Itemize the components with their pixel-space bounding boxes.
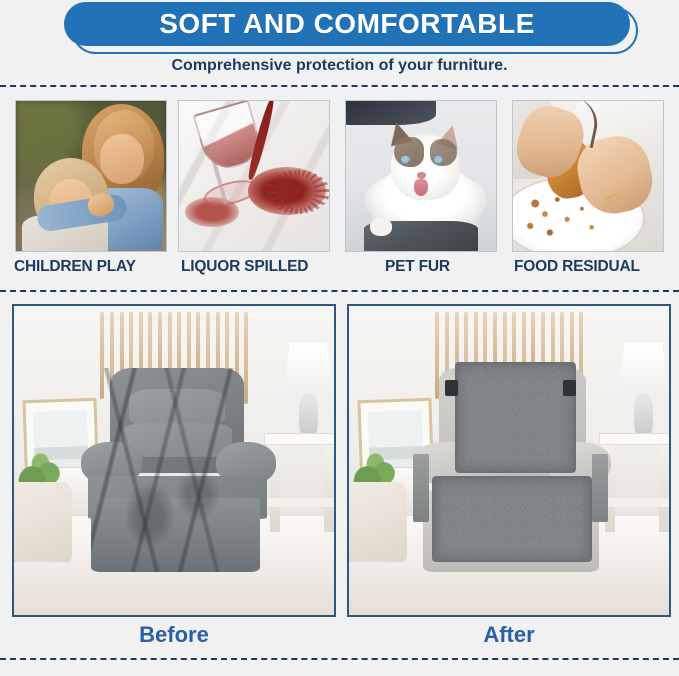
lamp-base xyxy=(634,393,653,436)
use-case-photo-liquor-spilled xyxy=(178,100,330,252)
lamp-shade xyxy=(618,343,669,396)
slipcover-strap-left xyxy=(445,380,458,395)
after-photo-frame xyxy=(347,304,671,617)
use-case-label-pet-fur: PET FUR xyxy=(385,258,450,276)
divider-top xyxy=(0,85,679,87)
use-case-label-children-play: CHILDREN PLAY xyxy=(14,258,136,276)
after-caption: After xyxy=(347,622,671,648)
slipcover-side-flap-right xyxy=(592,454,608,522)
lamp-shade xyxy=(283,343,334,396)
side-stool xyxy=(12,482,72,562)
side-table-top xyxy=(264,433,336,445)
wine-splash-crown xyxy=(266,170,330,214)
use-case-label-food-residual: FOOD RESIDUAL xyxy=(514,258,640,276)
side-table-top xyxy=(599,433,671,445)
before-living-room-scene xyxy=(14,306,334,615)
after-living-room-scene xyxy=(349,306,669,615)
cat-paw xyxy=(370,218,392,236)
fluffy-cat-photo xyxy=(346,101,496,251)
before-caption: Before xyxy=(12,622,336,648)
banner-fill-shape: SOFT AND COMFORTABLE xyxy=(64,2,630,46)
food-crumbs-photo xyxy=(513,101,663,251)
recliner-front-panel xyxy=(91,498,261,572)
before-after-comparison: Before After xyxy=(0,304,679,624)
cat-eye-left xyxy=(400,155,411,164)
lamp-base xyxy=(299,393,318,436)
header-banner: SOFT AND COMFORTABLE xyxy=(0,0,679,56)
use-case-photo-pet-fur xyxy=(345,100,497,252)
divider-middle xyxy=(0,290,679,292)
slipcover-backrest-panel xyxy=(455,362,577,473)
child-back-face xyxy=(100,134,144,184)
side-stool xyxy=(347,482,407,562)
spilled-wine-photo xyxy=(179,101,329,251)
side-table-shelf xyxy=(602,498,671,507)
side-table-leg-right xyxy=(659,445,669,532)
use-case-label-liquor-spilled: LIQUOR SPILLED xyxy=(181,258,308,276)
divider-bottom xyxy=(0,658,679,660)
recliner-headrest-cushion xyxy=(129,389,225,426)
children-hugging-photo xyxy=(16,101,166,251)
cat-nose xyxy=(417,172,426,179)
cat-eye-right xyxy=(433,155,444,164)
cat-tongue xyxy=(414,179,428,196)
before-photo-frame xyxy=(12,304,336,617)
page-title: SOFT AND COMFORTABLE xyxy=(159,8,535,40)
page-subtitle: Comprehensive protection of your furnitu… xyxy=(0,57,679,75)
side-table-shelf xyxy=(267,498,336,507)
use-case-photo-children-play xyxy=(15,100,167,252)
dark-background-corner xyxy=(345,100,436,125)
slipcover-seat-panel xyxy=(432,476,592,563)
slipcover-side-flap-left xyxy=(413,454,429,522)
side-table-leg-right xyxy=(324,445,334,532)
infographic-page: SOFT AND COMFORTABLE Comprehensive prote… xyxy=(0,0,679,676)
use-case-photo-food-residual xyxy=(512,100,664,252)
slipcover-strap-right xyxy=(563,380,576,395)
use-case-strip: CHILDREN PLAY LIQUOR SPILLED PET FUR FOO… xyxy=(0,100,679,285)
